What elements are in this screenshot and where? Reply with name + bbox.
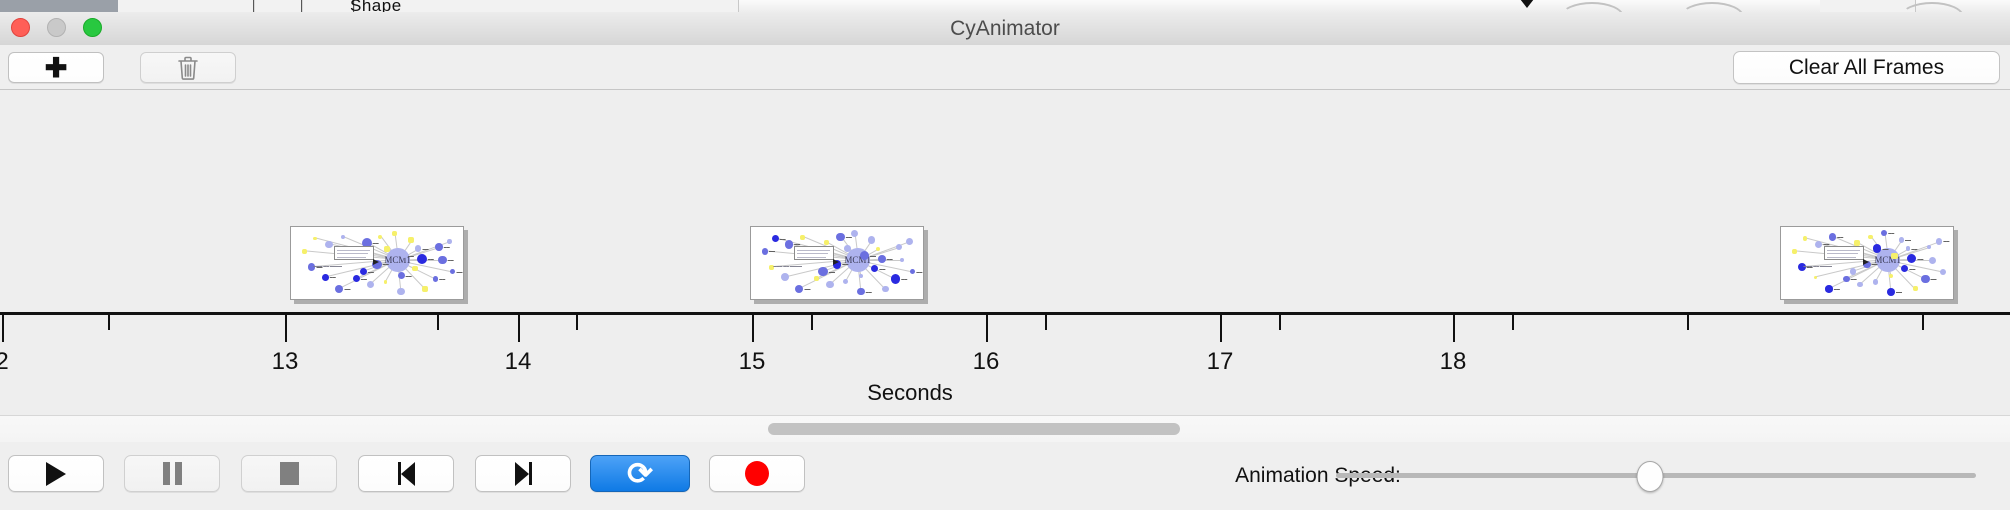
graph-node-label: ▬▬: [769, 249, 775, 253]
graph-node: [826, 281, 834, 289]
graph-node: [851, 230, 858, 237]
axis-title: Seconds: [867, 380, 953, 406]
network-graph-thumbnail: MCM1▬▬▬▬▬▬▬▬▬▬▬▬▬▬▬▬▬▬▬▬▬▬▬▬▬▬▬▬▬▬▬▬▬ ▬▬…: [291, 227, 463, 299]
graph-caption: ▬▬▬ ▬▬ ▬▬▬▬: [313, 264, 342, 268]
title-bar: CyAnimator: [0, 12, 2010, 46]
graph-annotation-box: [334, 246, 374, 260]
graph-annotation-box: [794, 246, 834, 260]
graph-node: [868, 236, 875, 243]
graph-node: [1899, 237, 1904, 242]
graph-node-label: ▬▬: [866, 290, 872, 294]
ruler-tick-minor: [1279, 315, 1281, 330]
graph-node-label: ▬▬: [330, 275, 336, 279]
graph-node: [367, 281, 374, 288]
graph-node: [795, 285, 804, 294]
pause-icon: [163, 462, 182, 485]
graph-node: [438, 256, 447, 265]
graph-node: [397, 288, 404, 295]
ruler-tick-major: [752, 315, 754, 342]
ruler-tick-label: 14: [505, 348, 532, 376]
graph-node: [1825, 285, 1832, 292]
keyframe-1[interactable]: MCM1▬▬▬▬▬▬▬▬▬▬▬▬▬▬▬▬▬▬▬▬▬▬▬▬▬▬▬▬▬▬▬▬▬ ▬▬…: [290, 226, 464, 300]
graph-node: [882, 286, 889, 293]
annotation-text-line: [797, 250, 830, 251]
annotation-text-line: [797, 257, 826, 258]
clear-all-frames-button[interactable]: Clear All Frames: [1733, 51, 2000, 84]
graph-node: [313, 237, 317, 241]
add-frame-button[interactable]: ✚: [8, 52, 104, 83]
graph-node: [1887, 288, 1895, 296]
graph-node: [781, 273, 789, 281]
graph-node: [871, 265, 878, 272]
loop-icon: ⟳: [627, 458, 653, 489]
pause-button[interactable]: [124, 455, 220, 492]
annotation-arrow: [373, 259, 379, 265]
scrollbar-thumb[interactable]: [768, 423, 1180, 435]
annotation-text-line: [1827, 253, 1858, 254]
ruler-tick-minor: [437, 315, 439, 330]
annotation-arrow: [833, 259, 839, 265]
annotation-text-line: [1827, 250, 1860, 251]
ruler-tick-minor: [811, 315, 813, 330]
skip-forward-icon: [515, 462, 532, 486]
graph-node-label: ▬▬: [1911, 247, 1917, 251]
network-graph-thumbnail: MCM1▬▬▬▬▬▬▬▬▬▬▬▬▬▬▬▬▬▬▬▬▬▬▬▬▬▬▬▬▬ ▬▬ ▬▬▬…: [751, 227, 923, 299]
delete-frame-button[interactable]: [140, 52, 236, 83]
ruler-tick-label: 16: [973, 348, 1000, 376]
graph-node-label: ▬▬: [1943, 239, 1949, 243]
graph-node-label: ▬▬: [879, 267, 885, 271]
graph-caption: ▬▬▬ ▬▬ ▬▬▬▬: [773, 264, 802, 268]
graph-node: [1901, 265, 1908, 272]
graph-node: [857, 288, 864, 295]
graph-node: [1873, 279, 1879, 285]
ruler-tick-major: [1453, 315, 1455, 342]
graph-caption: ▬▬▬ ▬▬ ▬▬▬▬: [1803, 264, 1832, 268]
ruler-tick-minor: [576, 315, 578, 330]
timeline-scrollbar[interactable]: [0, 415, 2010, 443]
graph-node: [392, 231, 397, 236]
bg-tab: [458, 0, 579, 12]
graph-node-label: ▬▬: [1872, 262, 1878, 266]
ruler-tick-minor: [1687, 315, 1689, 330]
slider-knob[interactable]: [1636, 461, 1663, 492]
graph-node: [398, 272, 405, 279]
ruler-tick-minor: [1045, 315, 1047, 330]
skip-back-button[interactable]: [358, 455, 454, 492]
graph-node-label: ▬▬: [1837, 235, 1843, 239]
graph-node: [335, 285, 344, 294]
annotation-text-line: [337, 250, 370, 251]
bg-tab: [118, 0, 289, 12]
graph-node: [878, 255, 886, 263]
graph-node: [900, 258, 904, 262]
graph-node: [910, 269, 915, 274]
graph-node-label: ▬▬: [422, 247, 428, 251]
graph-node: [1815, 241, 1822, 248]
graph-node: [1927, 245, 1931, 249]
bg-tab: [0, 0, 119, 12]
graph-node: [1940, 269, 1946, 275]
graph-node-label: ▬▬: [383, 262, 389, 266]
graph-node-label: ▬▬: [1931, 277, 1937, 281]
trash-icon: [177, 55, 199, 81]
graph-node-label: ▬▬: [1909, 267, 1915, 271]
graph-node: [1891, 253, 1897, 259]
graph-node: [891, 274, 901, 284]
ruler-axis-line: [0, 312, 2010, 315]
play-icon: [46, 462, 66, 486]
graph-node: [1921, 275, 1929, 283]
graph-node: [302, 249, 307, 254]
graph-node: [1792, 249, 1797, 254]
graph-node-label: ▬▬: [901, 277, 907, 281]
graph-node-label: ▬▬: [439, 277, 445, 281]
graph-annotation-box: [1824, 246, 1864, 260]
graph-node: [1936, 238, 1942, 244]
timeline-panel: MCM1▬▬▬▬▬▬▬▬▬▬▬▬▬▬▬▬▬▬▬▬▬▬▬▬▬▬▬▬▬▬▬▬▬ ▬▬…: [0, 90, 2010, 415]
graph-node: [906, 238, 913, 245]
toolbar: ✚ Clear All Frames: [0, 45, 2010, 90]
graph-node-label: ▬▬: [1834, 287, 1840, 291]
graph-node: [1929, 257, 1936, 264]
graph-node: [814, 276, 819, 281]
graph-node: [1889, 274, 1893, 278]
graph-node-label: ▬▬: [456, 270, 462, 274]
hub-node: MCM1: [386, 248, 410, 272]
graph-node-label: ▬▬: [804, 287, 810, 291]
graph-node-label: ▬▬: [842, 262, 848, 266]
loop-button[interactable]: ⟳: [590, 455, 690, 492]
ruler-tick-label: 13: [272, 348, 299, 376]
graph-node: [412, 266, 417, 271]
graph-node: [1803, 236, 1807, 240]
graph-node-label: ▬▬: [916, 270, 922, 274]
graph-node-label: ▬▬: [1917, 257, 1923, 261]
graph-node-label: ▬▬: [887, 257, 893, 261]
annotation-arrow: [1863, 259, 1869, 265]
graph-node: [1913, 286, 1918, 291]
graph-node: [450, 269, 456, 275]
animation-speed-slider[interactable]: [1336, 473, 1976, 478]
graph-node: [844, 245, 851, 252]
graph-node: [433, 276, 438, 281]
graph-node-label: ▬▬: [1882, 247, 1888, 251]
graph-node: [876, 247, 880, 251]
graph-node: [353, 275, 360, 282]
graph-node: [1857, 282, 1862, 287]
graph-node: [422, 286, 428, 292]
graph-node: [772, 235, 779, 242]
graph-node: [859, 274, 863, 278]
bg-tab: [578, 0, 739, 12]
graph-node-label: ▬▬: [428, 257, 434, 261]
annotation-text-line: [337, 257, 366, 258]
graph-node: [1814, 276, 1818, 280]
ruler-tick-minor: [108, 315, 110, 330]
graph-node: [1881, 230, 1887, 236]
graph-node: [417, 254, 427, 264]
network-graph-thumbnail: MCM1▬▬▬▬▬▬▬▬▬▬▬▬▬▬▬▬▬▬▬▬▬▬▬▬▬▬▬▬▬▬▬▬▬▬▬ …: [1781, 227, 1953, 299]
window-title: CyAnimator: [0, 12, 2010, 45]
skip-backward-icon: [398, 462, 415, 486]
ruler-tick-major: [986, 315, 988, 342]
ruler-tick-label: 15: [739, 348, 766, 376]
timeline-ruler[interactable]: Seconds 2131415161718: [0, 312, 2010, 415]
graph-node: [1843, 276, 1850, 283]
graph-node: [824, 240, 829, 245]
playback-controls: ⟳ Animation Speed:: [0, 442, 2010, 510]
graph-node: [896, 244, 902, 250]
skip-forward-button[interactable]: [475, 455, 571, 492]
graph-node-label: ▬▬: [444, 245, 450, 249]
keyframe-2[interactable]: MCM1▬▬▬▬▬▬▬▬▬▬▬▬▬▬▬▬▬▬▬▬▬▬▬▬▬▬▬▬▬ ▬▬ ▬▬▬…: [750, 226, 924, 300]
record-button[interactable]: [709, 455, 805, 492]
graph-node: [341, 235, 345, 239]
graph-node: [322, 274, 329, 281]
graph-node-label: ▬▬: [1888, 231, 1894, 235]
graph-node-label: ▬▬: [373, 241, 379, 245]
keyframe-3[interactable]: MCM1▬▬▬▬▬▬▬▬▬▬▬▬▬▬▬▬▬▬▬▬▬▬▬▬▬▬▬▬▬▬▬▬▬▬▬ …: [1780, 226, 1954, 300]
play-button[interactable]: [8, 455, 104, 492]
graph-node-label: ▬▬: [345, 287, 351, 291]
annotation-text-line: [337, 253, 368, 254]
graph-node: [762, 248, 768, 254]
graph-node: [384, 246, 390, 252]
annotation-text-line: [797, 253, 828, 254]
ruler-tick-major: [1220, 315, 1222, 342]
graph-node-label: ▬▬: [1905, 238, 1911, 242]
ruler-tick-label: 18: [1440, 348, 1467, 376]
graph-node: [447, 239, 452, 244]
ruler-tick-major: [285, 315, 287, 342]
graph-node-label: ▬▬: [1851, 277, 1857, 281]
graph-node: [1868, 235, 1873, 240]
graph-node-label: ▬▬: [870, 254, 876, 258]
graph-node: [1907, 254, 1916, 263]
graph-node: [1829, 233, 1836, 240]
graph-node-label: ▬▬: [780, 237, 786, 241]
ruler-tick-label: 2: [0, 348, 9, 376]
stop-icon: [280, 462, 299, 485]
graph-node: [384, 280, 388, 284]
cyanimator-window: | | | Shape CyAnimator ✚ Clear All Frame…: [0, 0, 2010, 510]
keyframe-strip: MCM1▬▬▬▬▬▬▬▬▬▬▬▬▬▬▬▬▬▬▬▬▬▬▬▬▬▬▬▬▬▬▬▬▬ ▬▬…: [0, 90, 2010, 312]
record-icon: [745, 461, 769, 486]
ruler-tick-major: [518, 315, 520, 342]
graph-node-label: ▬▬: [448, 258, 454, 262]
ruler-tick-minor: [1922, 315, 1924, 330]
ruler-tick-label: 17: [1207, 348, 1234, 376]
annotation-text-line: [1827, 257, 1856, 258]
graph-node: [785, 240, 794, 249]
graph-node: [1906, 246, 1910, 250]
graph-node: [408, 237, 414, 243]
graph-node: [435, 243, 443, 251]
graph-node: [800, 235, 805, 240]
ruler-tick-minor: [1512, 315, 1514, 330]
ruler-tick-major: [2, 315, 4, 342]
graph-node: [843, 279, 848, 284]
graph-node-label: ▬▬: [1896, 290, 1902, 294]
bg-cursor-arrow: [1520, 0, 1534, 8]
graph-node-label: ▬▬: [406, 274, 412, 278]
graph-node-label: ▬▬: [829, 270, 835, 274]
graph-node-label: ▬▬: [361, 277, 367, 281]
graph-node: [325, 241, 332, 248]
stop-button[interactable]: [241, 455, 337, 492]
graph-node-label: ▬▬: [408, 254, 414, 258]
graph-node-label: ▬▬: [368, 270, 374, 274]
